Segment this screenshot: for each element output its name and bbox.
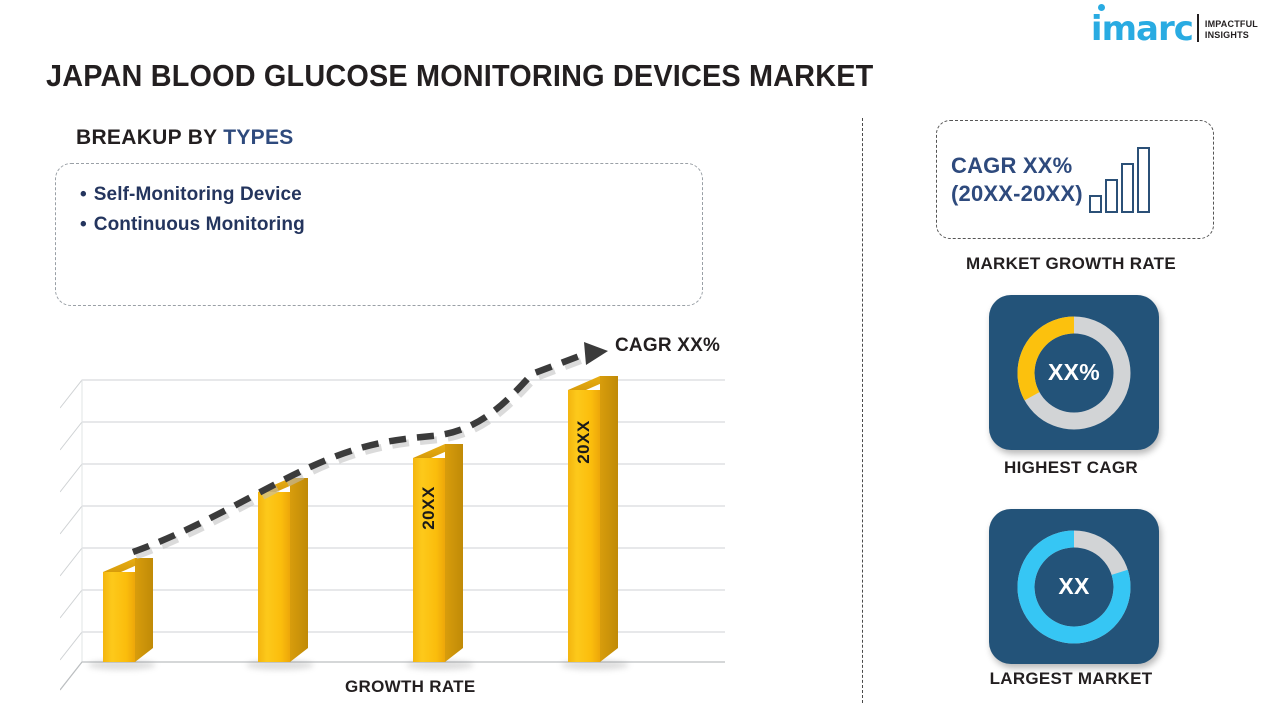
cagr-text: CAGR XX% (20XX-20XX) [951,152,1083,208]
highest-cagr-value: XX% [1048,359,1100,386]
breakup-accent: TYPES [223,126,293,149]
chart-gridlines [60,380,725,690]
brand-logo: imarc IMPACTFUL INSIGHTS [1091,14,1258,44]
market-growth-rate-label: MARKET GROWTH RATE [862,254,1280,274]
page-title: JAPAN BLOOD GLUCOSE MONITORING DEVICES M… [46,58,873,94]
market-growth-rate-card: CAGR XX% (20XX-20XX) [936,120,1214,239]
bar-chart-icon [1089,147,1150,213]
bar-label-4: 20XX [574,419,594,465]
brand-tagline: IMPACTFUL INSIGHTS [1205,19,1258,44]
list-item: Continuous Monitoring [80,210,702,240]
breakup-prefix: BREAKUP BY [76,126,217,149]
types-list-box: Self-Monitoring Device Continuous Monito… [55,163,703,306]
brand-dot-icon [1098,4,1105,11]
cagr-trend-label: CAGR XX% [615,335,720,357]
bar-2 [258,478,308,662]
breakup-heading: BREAKUP BY TYPES [76,126,294,150]
chart-canvas [60,340,740,695]
largest-market-label: LARGEST MARKET [862,669,1280,689]
section-divider [862,118,863,703]
trend-arrow [133,342,608,556]
bar-1 [103,558,153,662]
bar-3 [413,444,463,662]
chart-axis-label: GROWTH RATE [345,677,475,697]
brand-tagline-line2: INSIGHTS [1205,30,1258,41]
brand-name: imarc [1091,9,1193,49]
list-item: Self-Monitoring Device [80,180,702,210]
growth-rate-chart: 20XX 20XX CAGR XX% GROWTH RATE [60,340,740,695]
highest-cagr-label: HIGHEST CAGR [862,458,1280,478]
bar-label-3: 20XX [419,485,439,531]
highest-cagr-tile: XX% [989,295,1159,450]
largest-market-value: XX [1058,573,1089,600]
brand-wordmark: imarc [1091,14,1193,44]
logo-divider [1197,14,1199,42]
cagr-period: (20XX-20XX) [951,180,1083,208]
brand-tagline-line1: IMPACTFUL [1205,19,1258,30]
largest-market-tile: XX [989,509,1159,664]
cagr-value: CAGR XX% [951,152,1083,180]
